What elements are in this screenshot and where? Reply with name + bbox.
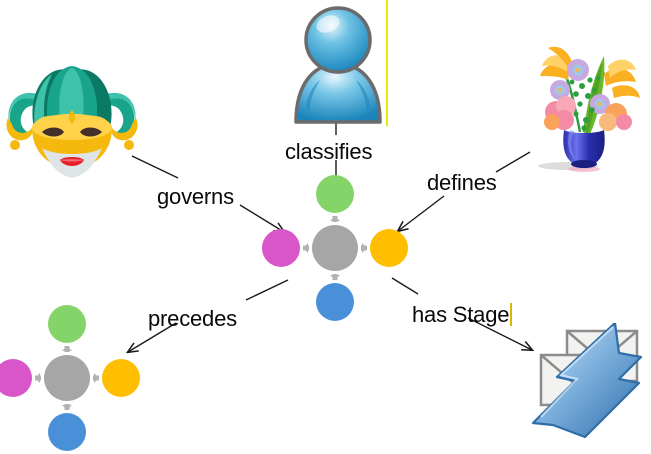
cluster-node-left[interactable] — [262, 229, 300, 267]
cluster-connector-arrowhead — [35, 373, 40, 383]
flower-vase-icon[interactable] — [520, 42, 648, 181]
cluster-node-bottom[interactable] — [48, 413, 86, 451]
person-user-icon[interactable] — [286, 2, 390, 131]
cluster-connector-arrowhead — [94, 373, 99, 383]
edge-label-has-stage-text: has Stage — [412, 302, 509, 327]
text-cursor-caret — [510, 303, 512, 326]
edge-label-classifies[interactable]: classifies — [285, 141, 372, 163]
cluster-node-left[interactable] — [0, 359, 32, 397]
cluster-node-right[interactable] — [102, 359, 140, 397]
cluster-connector-arrowhead — [62, 346, 72, 351]
cluster-connector-arrowhead — [362, 243, 367, 253]
mail-envelope-flash-icon[interactable] — [523, 323, 647, 452]
cluster-node-bottom[interactable] — [316, 283, 354, 321]
diagram-canvas: governs classifies defines precedes has … — [0, 0, 651, 454]
edge-label-has-stage[interactable]: has Stage — [412, 303, 512, 326]
cluster-connector-arrowhead — [330, 216, 340, 221]
cluster-connector-arrowhead — [330, 275, 340, 280]
venetian-jester-mask-icon[interactable] — [2, 48, 142, 185]
edge-label-governs[interactable]: governs — [157, 186, 234, 208]
lower-left-concept-cluster[interactable] — [0, 299, 146, 454]
edge-label-defines[interactable]: defines — [427, 172, 497, 194]
cluster-node-top[interactable] — [316, 175, 354, 213]
cluster-node-hub[interactable] — [44, 355, 90, 401]
center-concept-cluster[interactable] — [256, 169, 414, 327]
cluster-node-right[interactable] — [370, 229, 408, 267]
cluster-node-hub[interactable] — [312, 225, 358, 271]
edge-label-precedes[interactable]: precedes — [148, 308, 237, 330]
cluster-node-top[interactable] — [48, 305, 86, 343]
cluster-connector-arrowhead — [303, 243, 308, 253]
cluster-connector-arrowhead — [62, 405, 72, 410]
